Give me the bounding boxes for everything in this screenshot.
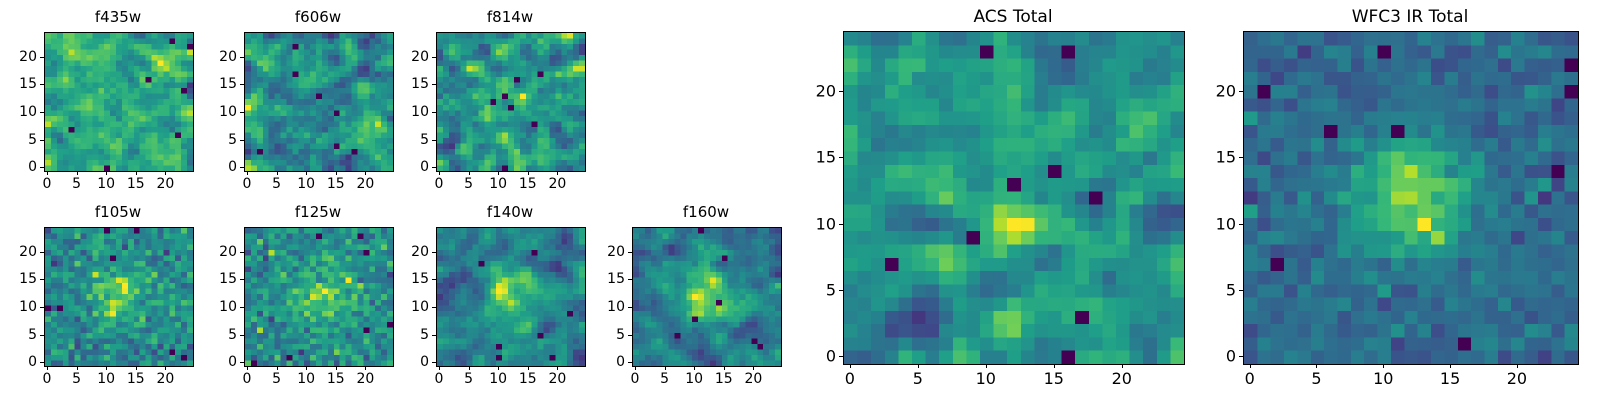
x-axis-tick <box>247 171 248 175</box>
x-axis-tick-label: 10 <box>97 371 115 387</box>
x-axis-tick-label: 5 <box>1311 369 1321 388</box>
y-axis-tick-label: 20 <box>803 81 836 100</box>
y-axis-tick <box>40 84 44 85</box>
x-axis-tick-label: 10 <box>489 371 507 387</box>
x-axis-tick <box>557 171 558 175</box>
x-axis-tick <box>1122 364 1123 368</box>
x-axis-tick <box>1450 364 1451 368</box>
y-axis-tick <box>628 335 632 336</box>
y-axis-tick <box>240 252 244 253</box>
y-axis-tick-label: 10 <box>1203 214 1236 233</box>
x-axis-tick-label: 10 <box>489 176 507 192</box>
x-axis-tick <box>1517 364 1518 368</box>
y-axis-tick-label: 0 <box>204 354 237 370</box>
y-axis-tick-label: 5 <box>4 132 37 148</box>
panel-f105w: f105w0510152005101520 <box>4 201 196 395</box>
y-axis-tick <box>432 362 436 363</box>
y-axis-tick <box>432 112 436 113</box>
y-axis-tick-label: 5 <box>803 280 836 299</box>
y-axis-tick <box>240 279 244 280</box>
y-axis-tick <box>432 57 436 58</box>
x-axis-tick-label: 15 <box>1044 369 1064 388</box>
y-axis-tick <box>432 84 436 85</box>
x-axis-tick <box>498 366 499 370</box>
y-axis-tick-label: 0 <box>803 347 836 366</box>
heatmap-image <box>436 32 586 172</box>
heatmap-image <box>244 227 394 367</box>
y-axis-tick-label: 5 <box>204 132 237 148</box>
x-axis-tick-label: 15 <box>1440 369 1460 388</box>
y-axis-tick-label: 10 <box>4 299 37 315</box>
y-axis-tick <box>432 140 436 141</box>
y-axis-tick-label: 10 <box>396 104 429 120</box>
x-axis-tick <box>439 171 440 175</box>
y-axis-tick <box>240 140 244 141</box>
x-axis-tick <box>498 171 499 175</box>
x-axis-tick-label: 10 <box>97 176 115 192</box>
x-axis-tick-label: 20 <box>156 371 174 387</box>
panel-title: f105w <box>44 203 192 221</box>
y-axis-tick-label: 15 <box>204 76 237 92</box>
y-axis-tick-label: 15 <box>396 76 429 92</box>
heatmap-image <box>244 32 394 172</box>
y-axis-tick-label: 20 <box>592 244 625 260</box>
x-axis-tick <box>47 366 48 370</box>
y-axis-tick <box>432 279 436 280</box>
y-axis-tick <box>40 167 44 168</box>
x-axis-tick-label: 5 <box>272 371 281 387</box>
y-axis-tick <box>40 335 44 336</box>
x-axis-tick-label: 20 <box>548 176 566 192</box>
x-axis-tick <box>665 366 666 370</box>
y-axis-tick-label: 20 <box>204 244 237 260</box>
y-axis-tick <box>1239 157 1243 158</box>
y-axis-tick <box>240 112 244 113</box>
x-axis-tick <box>365 171 366 175</box>
heatmap-image <box>44 32 194 172</box>
y-axis-tick <box>240 167 244 168</box>
x-axis-tick <box>106 171 107 175</box>
x-axis-tick-label: 0 <box>434 371 443 387</box>
x-axis-tick <box>165 171 166 175</box>
x-axis-tick <box>336 171 337 175</box>
y-axis-tick <box>240 362 244 363</box>
x-axis-tick <box>469 171 470 175</box>
y-axis-tick-label: 5 <box>4 327 37 343</box>
y-axis-tick-label: 0 <box>1203 347 1236 366</box>
panel-title: f125w <box>244 203 392 221</box>
panel-title: f814w <box>436 8 584 26</box>
x-axis-tick <box>528 366 529 370</box>
y-axis-tick-label: 20 <box>4 244 37 260</box>
y-axis-tick <box>628 307 632 308</box>
y-axis-tick <box>839 157 843 158</box>
x-axis-tick-label: 20 <box>744 371 762 387</box>
x-axis-tick-label: 15 <box>327 371 345 387</box>
y-axis-tick-label: 10 <box>204 299 237 315</box>
y-axis-tick-label: 0 <box>396 354 429 370</box>
y-axis-tick-label: 20 <box>396 244 429 260</box>
heatmap-canvas <box>1244 32 1578 364</box>
y-axis-tick <box>240 335 244 336</box>
x-axis-tick <box>136 366 137 370</box>
x-axis-tick <box>306 171 307 175</box>
x-axis-tick-label: 20 <box>156 176 174 192</box>
x-axis-tick <box>986 364 987 368</box>
panel-f606w: f606w0510152005101520 <box>204 6 396 200</box>
y-axis-tick-label: 10 <box>396 299 429 315</box>
y-axis-tick <box>40 279 44 280</box>
y-axis-tick <box>628 252 632 253</box>
x-axis-tick <box>850 364 851 368</box>
x-axis-tick <box>918 364 919 368</box>
x-axis-tick <box>1250 364 1251 368</box>
heatmap-canvas <box>844 32 1184 364</box>
y-axis-tick <box>839 224 843 225</box>
y-axis-tick-label: 0 <box>4 159 37 175</box>
x-axis-tick-label: 20 <box>1507 369 1527 388</box>
x-axis-tick <box>277 366 278 370</box>
panel-f140w: f140w0510152005101520 <box>396 201 588 395</box>
y-axis-tick-label: 5 <box>1203 280 1236 299</box>
y-axis-tick-label: 15 <box>803 148 836 167</box>
x-axis-tick <box>753 366 754 370</box>
y-axis-tick-label: 5 <box>396 327 429 343</box>
x-axis-tick <box>1054 364 1055 368</box>
y-axis-tick <box>1239 224 1243 225</box>
x-axis-tick-label: 10 <box>297 176 315 192</box>
panel-acs_total: ACS Total0510152005101520 <box>803 5 1187 393</box>
heatmap-canvas <box>437 228 585 366</box>
y-axis-tick <box>1239 356 1243 357</box>
x-axis-tick <box>165 366 166 370</box>
y-axis-tick <box>432 335 436 336</box>
x-axis-tick-label: 5 <box>660 371 669 387</box>
x-axis-tick-label: 0 <box>242 371 251 387</box>
x-axis-tick-label: 15 <box>715 371 733 387</box>
x-axis-tick <box>635 366 636 370</box>
panel-f435w: f435w0510152005101520 <box>4 6 196 200</box>
y-axis-tick <box>432 167 436 168</box>
x-axis-tick <box>336 366 337 370</box>
x-axis-tick-label: 10 <box>297 371 315 387</box>
heatmap-image <box>632 227 782 367</box>
y-axis-tick <box>1239 91 1243 92</box>
x-axis-tick <box>77 171 78 175</box>
y-axis-tick-label: 10 <box>204 104 237 120</box>
y-axis-tick <box>432 307 436 308</box>
x-axis-tick-label: 10 <box>976 369 996 388</box>
x-axis-tick-label: 5 <box>464 176 473 192</box>
y-axis-tick <box>40 112 44 113</box>
x-axis-tick-label: 0 <box>434 176 443 192</box>
y-axis-tick <box>839 290 843 291</box>
x-axis-tick-label: 20 <box>356 371 374 387</box>
y-axis-tick-label: 0 <box>4 354 37 370</box>
x-axis-tick-label: 15 <box>127 371 145 387</box>
panel-title: WFC3 IR Total <box>1243 7 1577 27</box>
y-axis-tick <box>1239 290 1243 291</box>
panel-title: f435w <box>44 8 192 26</box>
y-axis-tick-label: 20 <box>396 49 429 65</box>
y-axis-tick <box>628 279 632 280</box>
x-axis-tick <box>106 366 107 370</box>
y-axis-tick-label: 5 <box>204 327 237 343</box>
y-axis-tick <box>839 91 843 92</box>
y-axis-tick <box>40 307 44 308</box>
panel-f125w: f125w0510152005101520 <box>204 201 396 395</box>
figure-canvas: f435w0510152005101520f606w05101520051015… <box>0 0 1600 400</box>
heatmap-canvas <box>437 33 585 171</box>
y-axis-tick-label: 5 <box>592 327 625 343</box>
heatmap-canvas <box>245 228 393 366</box>
x-axis-tick <box>47 171 48 175</box>
panel-wfc3_ir_total: WFC3 IR Total0510152005101520 <box>1203 5 1581 393</box>
panel-title: f160w <box>632 203 780 221</box>
x-axis-tick <box>1316 364 1317 368</box>
y-axis-tick <box>839 356 843 357</box>
y-axis-tick <box>40 57 44 58</box>
y-axis-tick <box>240 84 244 85</box>
x-axis-tick-label: 10 <box>1373 369 1393 388</box>
x-axis-tick-label: 5 <box>72 371 81 387</box>
x-axis-tick-label: 15 <box>327 176 345 192</box>
heatmap-image <box>843 31 1185 365</box>
heatmap-canvas <box>633 228 781 366</box>
y-axis-tick-label: 15 <box>204 271 237 287</box>
y-axis-tick-label: 20 <box>1203 81 1236 100</box>
x-axis-tick-label: 0 <box>845 369 855 388</box>
y-axis-tick-label: 10 <box>803 214 836 233</box>
x-axis-tick-label: 15 <box>127 176 145 192</box>
panel-title: f140w <box>436 203 584 221</box>
y-axis-tick-label: 20 <box>204 49 237 65</box>
y-axis-tick-label: 15 <box>396 271 429 287</box>
panel-f160w: f160w0510152005101520 <box>592 201 784 395</box>
y-axis-tick <box>628 362 632 363</box>
y-axis-tick <box>240 307 244 308</box>
y-axis-tick-label: 0 <box>592 354 625 370</box>
panel-title: ACS Total <box>843 7 1183 27</box>
y-axis-tick-label: 10 <box>4 104 37 120</box>
x-axis-tick <box>277 171 278 175</box>
y-axis-tick-label: 15 <box>1203 148 1236 167</box>
x-axis-tick <box>528 171 529 175</box>
y-axis-tick <box>40 362 44 363</box>
x-axis-tick-label: 0 <box>42 371 51 387</box>
panel-f814w: f814w0510152005101520 <box>396 6 588 200</box>
y-axis-tick <box>432 252 436 253</box>
x-axis-tick-label: 20 <box>356 176 374 192</box>
x-axis-tick-label: 0 <box>630 371 639 387</box>
x-axis-tick-label: 5 <box>913 369 923 388</box>
x-axis-tick <box>306 366 307 370</box>
heatmap-canvas <box>245 33 393 171</box>
x-axis-tick-label: 0 <box>1245 369 1255 388</box>
heatmap-image <box>436 227 586 367</box>
y-axis-tick-label: 15 <box>4 271 37 287</box>
y-axis-tick <box>40 140 44 141</box>
y-axis-tick-label: 15 <box>4 76 37 92</box>
heatmap-image <box>44 227 194 367</box>
x-axis-tick <box>136 171 137 175</box>
x-axis-tick-label: 5 <box>464 371 473 387</box>
heatmap-image <box>1243 31 1579 365</box>
y-axis-tick-label: 20 <box>4 49 37 65</box>
x-axis-tick <box>1383 364 1384 368</box>
x-axis-tick-label: 5 <box>272 176 281 192</box>
x-axis-tick <box>694 366 695 370</box>
x-axis-tick <box>469 366 470 370</box>
y-axis-tick-label: 15 <box>592 271 625 287</box>
heatmap-canvas <box>45 228 193 366</box>
x-axis-tick-label: 10 <box>685 371 703 387</box>
x-axis-tick-label: 15 <box>519 371 537 387</box>
heatmap-canvas <box>45 33 193 171</box>
y-axis-tick <box>40 252 44 253</box>
x-axis-tick <box>77 366 78 370</box>
x-axis-tick-label: 0 <box>42 176 51 192</box>
panel-title: f606w <box>244 8 392 26</box>
x-axis-tick-label: 5 <box>72 176 81 192</box>
x-axis-tick-label: 15 <box>519 176 537 192</box>
x-axis-tick-label: 20 <box>548 371 566 387</box>
x-axis-tick <box>247 366 248 370</box>
x-axis-tick-label: 0 <box>242 176 251 192</box>
y-axis-tick <box>240 57 244 58</box>
y-axis-tick-label: 0 <box>204 159 237 175</box>
x-axis-tick <box>365 366 366 370</box>
y-axis-tick-label: 10 <box>592 299 625 315</box>
y-axis-tick-label: 0 <box>396 159 429 175</box>
y-axis-tick-label: 5 <box>396 132 429 148</box>
x-axis-tick <box>439 366 440 370</box>
x-axis-tick-label: 20 <box>1112 369 1132 388</box>
x-axis-tick <box>557 366 558 370</box>
x-axis-tick <box>724 366 725 370</box>
